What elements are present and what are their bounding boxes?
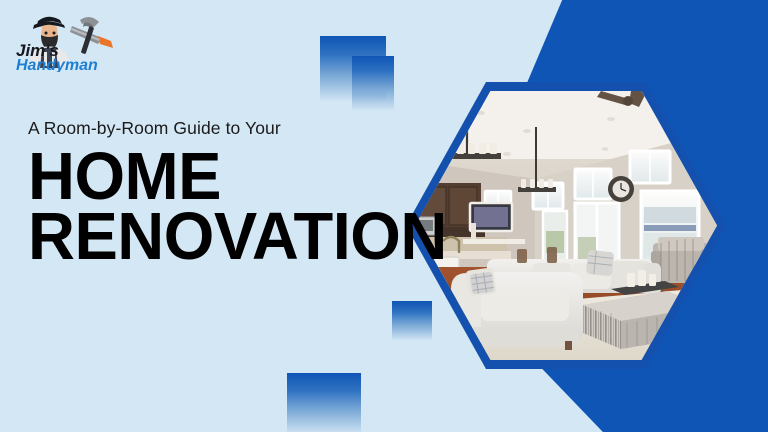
headline-text: HOME RENOVATION xyxy=(28,148,447,265)
gradient-square-top-small xyxy=(352,56,394,111)
headline-block: A Room-by-Room Guide to Your HOME RENOVA… xyxy=(28,118,460,265)
logo-line2: Handyman xyxy=(16,57,98,72)
subtitle-text: A Room-by-Room Guide to Your xyxy=(28,118,460,139)
headline-line-1: HOME xyxy=(28,148,447,206)
headline-line-2: RENOVATION xyxy=(28,208,447,266)
banner-canvas: Jim's Handyman A Room-by-Room Guide to Y… xyxy=(0,0,768,432)
gradient-square-bottom-large xyxy=(287,373,361,432)
jims-handyman-logo[interactable]: Jim's Handyman xyxy=(12,8,120,72)
